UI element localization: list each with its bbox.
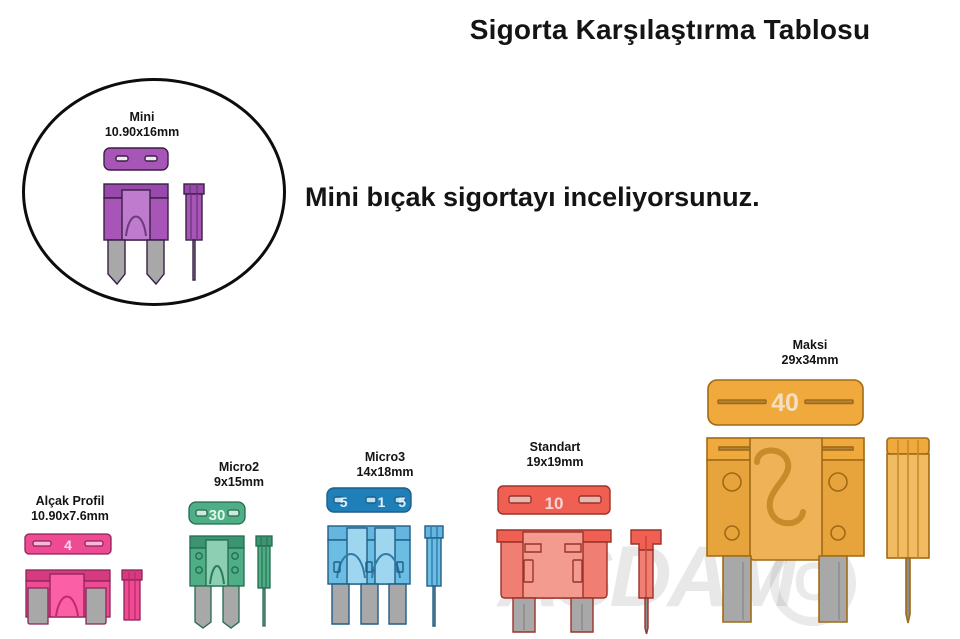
- fuse-rating-maksi: 40: [771, 389, 799, 417]
- fuse-micro2: 30: [186, 500, 278, 632]
- magnifier-size: 10.90x16mm: [82, 125, 202, 140]
- fuse-rating-low-profile: 4: [64, 537, 72, 553]
- fuse-caption-standart: Standart 19x19mm: [500, 440, 610, 470]
- fuse-low-profile: 4: [22, 532, 152, 632]
- page-title: Sigorta Karşılaştırma Tablosu: [400, 14, 940, 46]
- fuse-name-low-profile: Alçak Profil: [10, 494, 130, 509]
- fuse-rating-standart: 10: [545, 494, 564, 513]
- fuse-name-maksi: Maksi: [755, 338, 865, 353]
- fuse-caption-maksi: Maksi 29x34mm: [755, 338, 865, 368]
- subtitle-text: Mini bıçak sigortayı inceliyorsunuz.: [305, 182, 915, 213]
- fuse-size-low-profile: 10.90x7.6mm: [10, 509, 130, 524]
- fuse-name-micro2: Micro2: [184, 460, 294, 475]
- magnifier-name: Mini: [82, 110, 202, 125]
- fuse-size-micro2: 9x15mm: [184, 475, 294, 490]
- magnifier-caption: Mini 10.90x16mm: [82, 110, 202, 140]
- fuse-rating-micro2: 30: [209, 507, 226, 524]
- fuse-standart: 10: [495, 484, 675, 636]
- fuse-comparison-chart: Sigorta Karşılaştırma Tablosu Mini bıçak…: [0, 0, 960, 639]
- fuse-size-micro3: 14x18mm: [330, 465, 440, 480]
- fuse-size-maksi: 29x34mm: [755, 353, 865, 368]
- fuse-caption-micro3: Micro3 14x18mm: [330, 450, 440, 480]
- fuse-size-standart: 19x19mm: [500, 455, 610, 470]
- fuse-name-standart: Standart: [500, 440, 610, 455]
- fuse-micro3: 15 15: [325, 486, 450, 632]
- fuse-mini-magnified: [96, 146, 216, 286]
- fuse-rating-micro3: 15 15: [325, 494, 419, 510]
- fuse-maksi: 40: [705, 378, 950, 628]
- fuse-name-micro3: Micro3: [330, 450, 440, 465]
- fuse-caption-micro2: Micro2 9x15mm: [184, 460, 294, 490]
- fuse-caption-low-profile: Alçak Profil 10.90x7.6mm: [10, 494, 130, 524]
